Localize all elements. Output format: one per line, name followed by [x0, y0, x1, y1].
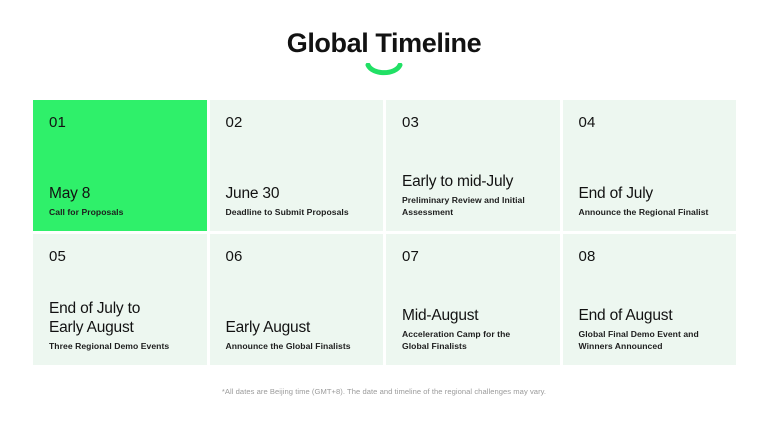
- timeline-card-03[interactable]: 03 Early to mid-July Preliminary Review …: [386, 100, 560, 231]
- footnote-text: *All dates are Beijing time (GMT+8). The…: [0, 386, 768, 397]
- card-description: Call for Proposals: [49, 206, 193, 218]
- timeline-card-02[interactable]: 02 June 30 Deadline to Submit Proposals: [210, 100, 384, 231]
- timeline-grid: 01 May 8 Call for Proposals 02 June 30 D…: [33, 100, 736, 365]
- card-body: June 30 Deadline to Submit Proposals: [226, 184, 370, 218]
- timeline-card-05[interactable]: 05 End of July to Early August Three Reg…: [33, 234, 207, 365]
- card-description: Acceleration Camp for the Global Finalis…: [402, 328, 546, 352]
- card-body: Early August Announce the Global Finalis…: [226, 318, 370, 352]
- smile-arc-icon: [365, 63, 403, 77]
- card-number: 04: [579, 114, 723, 132]
- card-body: End of July to Early August Three Region…: [49, 299, 193, 352]
- card-number: 07: [402, 248, 546, 266]
- card-date: End of July: [579, 184, 723, 203]
- card-number: 01: [49, 114, 193, 132]
- page-title: Global Timeline: [0, 26, 768, 60]
- card-number: 03: [402, 114, 546, 132]
- timeline-page: Global Timeline 01 May 8 Call for Propos…: [0, 0, 768, 432]
- card-body: End of July Announce the Regional Finali…: [579, 184, 723, 218]
- card-number: 02: [226, 114, 370, 132]
- card-date: End of August: [579, 306, 723, 325]
- card-date: End of July to Early August: [49, 299, 193, 337]
- card-body: Mid-August Acceleration Camp for the Glo…: [402, 306, 546, 352]
- card-description: Preliminary Review and Initial Assessmen…: [402, 194, 546, 218]
- timeline-card-01[interactable]: 01 May 8 Call for Proposals: [33, 100, 207, 231]
- title-accent: [0, 63, 768, 79]
- card-description: Deadline to Submit Proposals: [226, 206, 370, 218]
- card-date: Early to mid-July: [402, 172, 546, 191]
- card-body: May 8 Call for Proposals: [49, 184, 193, 218]
- card-date: Early August: [226, 318, 370, 337]
- card-date: May 8: [49, 184, 193, 203]
- card-number: 05: [49, 248, 193, 266]
- timeline-card-07[interactable]: 07 Mid-August Acceleration Camp for the …: [386, 234, 560, 365]
- card-description: Three Regional Demo Events: [49, 340, 193, 352]
- card-description: Announce the Regional Finalist: [579, 206, 723, 218]
- timeline-card-04[interactable]: 04 End of July Announce the Regional Fin…: [563, 100, 737, 231]
- card-body: Early to mid-July Preliminary Review and…: [402, 172, 546, 218]
- card-number: 06: [226, 248, 370, 266]
- card-body: End of August Global Final Demo Event an…: [579, 306, 723, 352]
- card-description: Announce the Global Finalists: [226, 340, 370, 352]
- timeline-card-06[interactable]: 06 Early August Announce the Global Fina…: [210, 234, 384, 365]
- card-date: Mid-August: [402, 306, 546, 325]
- timeline-card-08[interactable]: 08 End of August Global Final Demo Event…: [563, 234, 737, 365]
- page-header: Global Timeline: [0, 26, 768, 79]
- card-description: Global Final Demo Event and Winners Anno…: [579, 328, 723, 352]
- card-date: June 30: [226, 184, 370, 203]
- card-number: 08: [579, 248, 723, 266]
